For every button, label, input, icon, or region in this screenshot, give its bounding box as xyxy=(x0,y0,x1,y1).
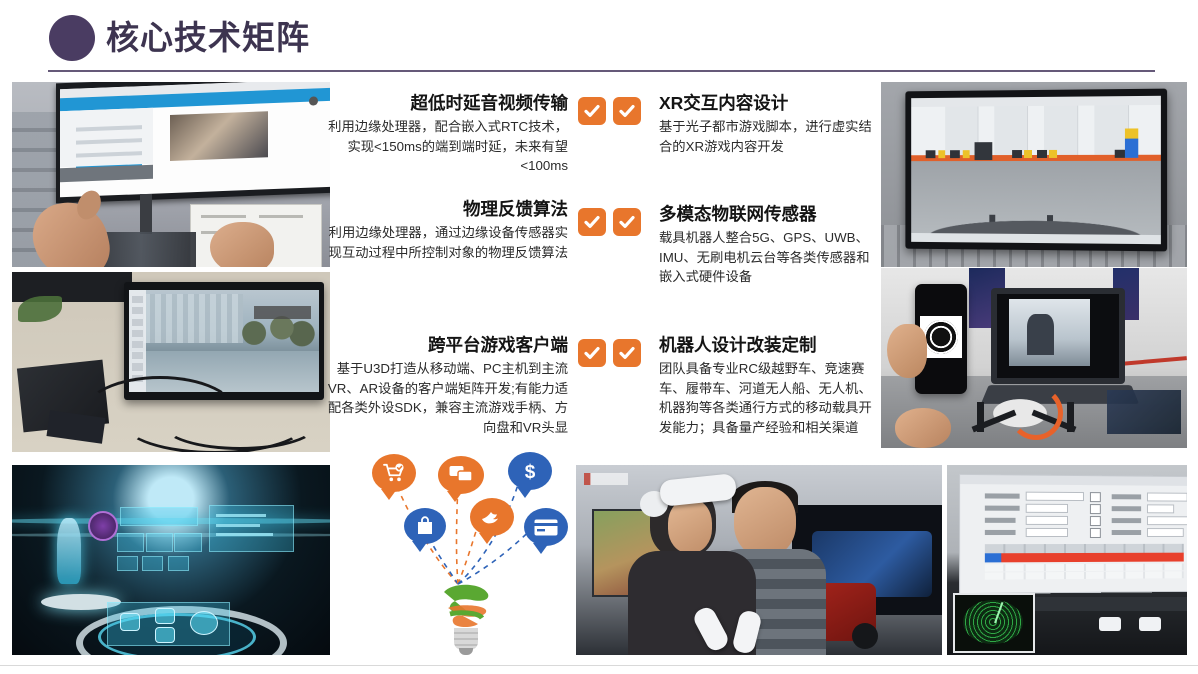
check-icon xyxy=(613,339,641,367)
feature-description: 基于光子都市游戏脚本，进行虚实结合的XR游戏内容开发 xyxy=(659,117,881,156)
feature-description: 利用边缘处理器，通过边缘设备传感器实现互动过程中所控制对象的物理反馈算法 xyxy=(318,223,568,262)
shopping-bag-icon xyxy=(404,508,446,544)
bird-icon xyxy=(470,498,514,536)
photo-large-display-hands xyxy=(12,82,330,267)
feature-description: 利用边缘处理器，配合嵌入式RTC技术，实现<150ms的端到端时延，未来有望<1… xyxy=(318,117,568,176)
check-icons-group-1 xyxy=(578,97,641,125)
radar-display xyxy=(953,593,1035,653)
photo-phone-laptop-drone xyxy=(881,268,1187,448)
footer-divider xyxy=(0,665,1198,666)
feature-title: 多模态物联网传感器 xyxy=(659,203,881,225)
header-divider xyxy=(48,70,1155,72)
svg-text:$: $ xyxy=(525,462,536,482)
check-icon xyxy=(578,208,606,236)
flower-logo-icon xyxy=(924,320,958,354)
save-icon xyxy=(1139,617,1161,631)
feature-card-3: 跨平台游戏客户端 基于U3D打造从移动端、PC主机到主流VR、AR设备的客户端矩… xyxy=(318,334,568,437)
photo-vr-scifi-room xyxy=(12,465,330,655)
camera-icon xyxy=(1099,617,1121,631)
feature-card-4: XR交互内容设计 基于光子都市游戏脚本，进行虚实结合的XR游戏内容开发 xyxy=(659,92,881,156)
photo-edge-device-monitor xyxy=(12,272,330,452)
circle-bullet-icon xyxy=(49,15,95,61)
check-icon xyxy=(578,339,606,367)
photo-simulation-monitor xyxy=(881,82,1187,267)
photo-control-software xyxy=(947,465,1187,655)
photo-vr-users xyxy=(576,465,942,655)
lightbulb-icon xyxy=(438,578,494,630)
lightbulb-ideas-infographic: $ xyxy=(342,452,574,664)
chat-bubbles-icon xyxy=(438,456,484,494)
feature-card-5: 多模态物联网传感器 载具机器人整合5G、GPS、UWB、IMU、无刷电机云台等各… xyxy=(659,203,881,287)
check-icons-group-2 xyxy=(578,208,641,236)
feature-title: 物理反馈算法 xyxy=(318,198,568,220)
slide-root: 核心技术矩阵 xyxy=(0,0,1198,674)
feature-card-1: 超低时延音视频传输 利用边缘处理器，配合嵌入式RTC技术，实现<150ms的端到… xyxy=(318,92,568,176)
feature-card-6: 机器人设计改装定制 团队具备专业RC级越野车、竞速赛车、履带车、河道无人船、无人… xyxy=(659,334,881,437)
feature-title: 跨平台游戏客户端 xyxy=(318,334,568,356)
feature-title: 机器人设计改装定制 xyxy=(659,334,881,356)
check-icon xyxy=(578,97,606,125)
check-icons-group-3 xyxy=(578,339,641,367)
credit-card-icon xyxy=(524,508,568,546)
check-icon xyxy=(613,208,641,236)
dollar-icon: $ xyxy=(508,452,552,490)
feature-description: 团队具备专业RC级越野车、竞速赛车、履带车、河道无人船、无人机、机器狗等各类通行… xyxy=(659,359,881,437)
feature-title: XR交互内容设计 xyxy=(659,92,881,114)
feature-card-2: 物理反馈算法 利用边缘处理器，通过边缘设备传感器实现互动过程中所控制对象的物理反… xyxy=(318,198,568,262)
page-title: 核心技术矩阵 xyxy=(106,16,310,60)
feature-title: 超低时延音视频传输 xyxy=(318,92,568,114)
check-icon xyxy=(613,97,641,125)
bulb-base xyxy=(454,628,478,650)
feature-description: 基于U3D打造从移动端、PC主机到主流VR、AR设备的客户端矩阵开发;有能力适配… xyxy=(318,359,568,437)
shopping-cart-icon xyxy=(372,454,416,492)
feature-description: 载具机器人整合5G、GPS、UWB、IMU、无刷电机云台等各类传感器和嵌入式硬件… xyxy=(659,228,881,287)
slide-header: 核心技术矩阵 xyxy=(0,0,1198,72)
